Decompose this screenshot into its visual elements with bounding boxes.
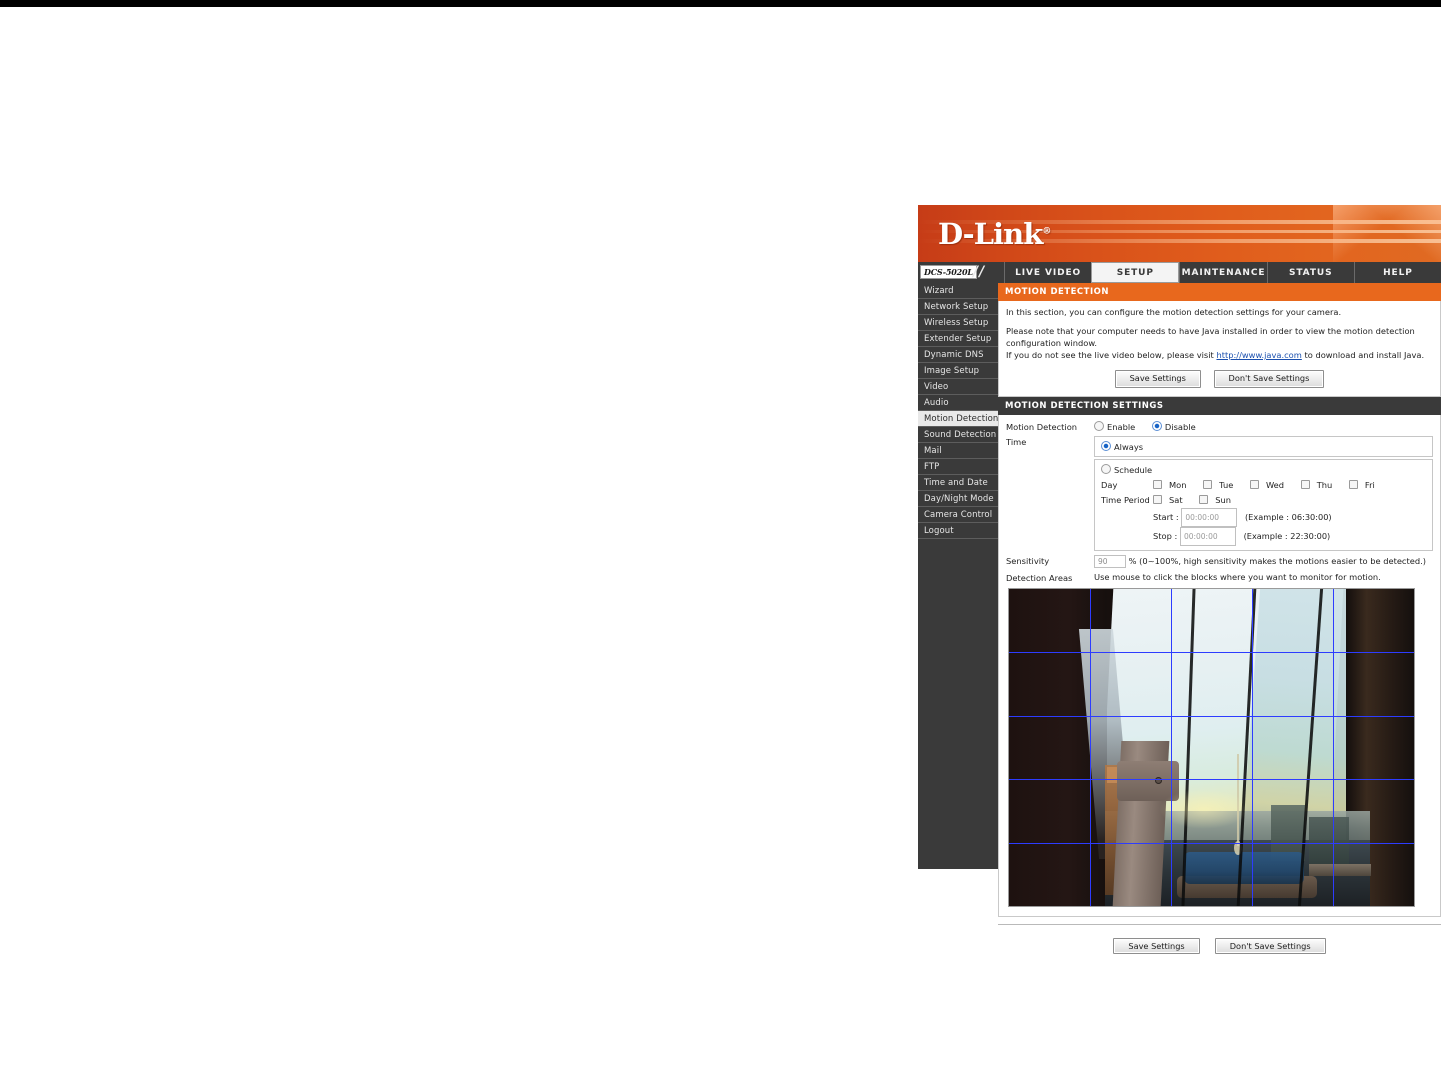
label-time: Time — [1006, 436, 1094, 551]
checkbox-tue-icon[interactable] — [1203, 480, 1212, 489]
schedule-controls: Mon Tue Wed Thu Fri Sat Sun — [1153, 478, 1426, 546]
schedule-option-box: Schedule Day Time Period Mon — [1094, 459, 1433, 551]
start-time-input[interactable]: 00:00:00 — [1181, 508, 1237, 527]
checkbox-fri[interactable]: Fri — [1349, 480, 1382, 490]
scene-building-far — [1309, 817, 1349, 865]
time-options: Always Schedule Day Time Period — [1094, 436, 1433, 551]
sidebar-item-camera-control[interactable]: Camera Control — [918, 507, 998, 523]
radio-always-icon[interactable] — [1101, 441, 1111, 451]
label-mon: Mon — [1169, 480, 1187, 490]
intro-block: In this section, you can configure the m… — [998, 301, 1441, 397]
motion-detection-radio-group: Enable Disable — [1094, 421, 1433, 432]
sidebar-item-wizard[interactable]: Wizard — [918, 283, 998, 299]
settings-form: Motion Detection Enable Disable Time Alw… — [998, 415, 1441, 917]
label-disable: Disable — [1165, 422, 1196, 432]
detection-grid-line-v[interactable] — [1090, 589, 1091, 906]
section-header-motion-detection: MOTION DETECTION — [998, 283, 1441, 301]
section-header-motion-detection-settings: MOTION DETECTION SETTINGS — [998, 397, 1441, 415]
java-visit-suffix: to download and install Java. — [1302, 350, 1424, 360]
sidebar-item-mail[interactable]: Mail — [918, 443, 998, 459]
stop-time-input[interactable]: 00:00:00 — [1180, 527, 1236, 546]
checkbox-wed-icon[interactable] — [1250, 480, 1259, 489]
scene-blue-furniture — [1184, 852, 1304, 884]
label-sun: Sun — [1215, 495, 1231, 505]
detection-grid-line-h[interactable] — [1009, 779, 1414, 780]
sidebar-item-time-and-date[interactable]: Time and Date — [918, 475, 998, 491]
detection-grid-line-v[interactable] — [1171, 589, 1172, 906]
tab-live-video[interactable]: LIVE VIDEO — [1004, 262, 1091, 283]
detection-area-video-preview[interactable] — [1008, 588, 1415, 907]
dont-save-settings-button-bottom[interactable]: Don't Save Settings — [1215, 938, 1326, 954]
java-download-link[interactable]: http://www.java.com — [1216, 350, 1301, 360]
camera-scene — [1009, 589, 1414, 906]
content-area: MOTION DETECTION In this section, you ca… — [998, 283, 1441, 869]
detection-grid-line-h[interactable] — [1009, 652, 1414, 653]
checkbox-mon-icon[interactable] — [1153, 480, 1162, 489]
sidebar-item-motion-detection[interactable]: Motion Detection — [918, 411, 998, 427]
detection-areas-hint: Use mouse to click the blocks where you … — [1094, 572, 1381, 582]
registered-mark-icon: ® — [1042, 226, 1050, 236]
sidebar-item-ftp[interactable]: FTP — [918, 459, 998, 475]
row-sensitivity: Sensitivity 90 % (0~100%, high sensitivi… — [1006, 555, 1433, 568]
label-detection-areas: Detection Areas — [1006, 572, 1094, 583]
checkbox-wed[interactable]: Wed — [1250, 480, 1291, 490]
radio-option-disable[interactable]: Disable — [1152, 422, 1196, 432]
checkbox-sat[interactable]: Sat — [1153, 495, 1190, 505]
model-name: DCS-5020L — [920, 265, 977, 279]
checkbox-tue[interactable]: Tue — [1203, 480, 1240, 490]
label-thu: Thu — [1317, 480, 1333, 490]
label-sat: Sat — [1169, 495, 1183, 505]
tab-setup[interactable]: SETUP — [1091, 262, 1179, 283]
label-time-period: Time Period — [1101, 493, 1153, 508]
start-time-line: Start : 00:00:00 (Example : 06:30:00) — [1153, 508, 1426, 527]
save-settings-button-top[interactable]: Save Settings — [1115, 370, 1201, 388]
detection-areas-hint-field: Use mouse to click the blocks where you … — [1094, 572, 1433, 583]
label-schedule: Schedule — [1114, 465, 1152, 475]
banner-wedge-decoration — [1333, 205, 1441, 262]
save-settings-button-bottom[interactable]: Save Settings — [1113, 938, 1199, 954]
intro-paragraph-2: Please note that your computer needs to … — [1006, 325, 1433, 361]
dlink-camera-web-ui: D-Link® DCS-5020L // LIVE VIDEO SETUP MA… — [918, 205, 1441, 869]
sidebar-item-sound-detection[interactable]: Sound Detection — [918, 427, 998, 443]
label-tue: Tue — [1219, 480, 1233, 490]
screen-top-border — [0, 0, 1441, 7]
model-badge-area: DCS-5020L // — [918, 262, 1004, 283]
tab-maintenance[interactable]: MAINTENANCE — [1179, 262, 1266, 283]
detection-grid-line-v[interactable] — [1333, 589, 1334, 906]
label-motion-detection: Motion Detection — [1006, 421, 1094, 432]
label-sensitivity: Sensitivity — [1006, 555, 1094, 568]
slash-decoration-icon: // — [973, 264, 985, 280]
stop-time-line: Stop : 00:00:00 (Example : 22:30:00) — [1153, 527, 1426, 546]
intro-paragraph-1: In this section, you can configure the m… — [1006, 306, 1433, 318]
checkbox-mon[interactable]: Mon — [1153, 480, 1194, 490]
label-enable: Enable — [1107, 422, 1135, 432]
java-visit-prefix: If you do not see the live video below, … — [1006, 350, 1216, 360]
checkbox-fri-icon[interactable] — [1349, 480, 1358, 489]
sensitivity-input[interactable]: 90 — [1094, 555, 1126, 568]
sidebar-item-video[interactable]: Video — [918, 379, 998, 395]
sensitivity-unit: % — [1129, 556, 1137, 566]
sidebar-item-audio[interactable]: Audio — [918, 395, 998, 411]
checkbox-thu-icon[interactable] — [1301, 480, 1310, 489]
checkbox-sun-icon[interactable] — [1199, 495, 1208, 504]
label-always: Always — [1114, 442, 1143, 452]
schedule-grid: Day Time Period Mon Tue Wed Thu — [1101, 478, 1426, 546]
detection-grid-line-v[interactable] — [1252, 589, 1253, 906]
dlink-logo-text: D-Link — [938, 217, 1042, 251]
always-option-box[interactable]: Always — [1094, 436, 1433, 457]
detection-grid-line-h[interactable] — [1009, 843, 1414, 844]
sidebar-item-extender-setup[interactable]: Extender Setup — [918, 331, 998, 347]
page-body: Wizard Network Setup Wireless Setup Exte… — [918, 283, 1441, 869]
row-time: Time Always Schedule Day — [1006, 436, 1433, 551]
dlink-logo: D-Link® — [938, 217, 1050, 251]
sensitivity-field: 90 % (0~100%, high sensitivity makes the… — [1094, 555, 1433, 568]
dont-save-settings-button-top[interactable]: Don't Save Settings — [1214, 370, 1325, 388]
schedule-row-labels: Day Time Period — [1101, 478, 1153, 508]
checkbox-sat-icon[interactable] — [1153, 495, 1162, 504]
brand-banner: D-Link® — [918, 205, 1441, 262]
sidebar-item-network-setup[interactable]: Network Setup — [918, 299, 998, 315]
checkbox-thu[interactable]: Thu — [1301, 480, 1340, 490]
label-fri: Fri — [1365, 480, 1375, 490]
tab-status[interactable]: STATUS — [1267, 262, 1354, 283]
sidebar-item-logout[interactable]: Logout — [918, 523, 998, 539]
start-time-example: (Example : 06:30:00) — [1245, 512, 1332, 522]
scene-window-sill — [1309, 864, 1371, 876]
top-button-row: Save Settings Don't Save Settings — [1006, 370, 1433, 388]
primary-nav: DCS-5020L // LIVE VIDEO SETUP MAINTENANC… — [918, 262, 1441, 283]
radio-option-enable[interactable]: Enable — [1094, 422, 1135, 432]
sidebar-item-image-setup[interactable]: Image Setup — [918, 363, 998, 379]
radio-schedule-icon[interactable] — [1101, 464, 1111, 474]
label-start: Start : — [1153, 512, 1179, 522]
sidebar-item-wireless-setup[interactable]: Wireless Setup — [918, 315, 998, 331]
tab-help[interactable]: HELP — [1354, 262, 1441, 283]
radio-disable-icon[interactable] — [1152, 421, 1162, 431]
label-day: Day — [1101, 478, 1153, 493]
checkbox-sun[interactable]: Sun — [1199, 495, 1238, 505]
sidebar-item-day-night-mode[interactable]: Day/Night Mode — [918, 491, 998, 507]
sidebar-menu: Wizard Network Setup Wireless Setup Exte… — [918, 283, 998, 869]
stop-time-example: (Example : 22:30:00) — [1244, 531, 1331, 541]
sidebar-item-dynamic-dns[interactable]: Dynamic DNS — [918, 347, 998, 363]
scene-sunlight-glow — [1159, 789, 1249, 829]
java-requirement-text: Please note that your computer needs to … — [1006, 326, 1415, 348]
row-detection-areas: Detection Areas Use mouse to click the b… — [1006, 572, 1433, 583]
label-stop: Stop : — [1153, 531, 1177, 541]
schedule-radio-line[interactable]: Schedule — [1101, 464, 1426, 475]
sensitivity-hint: (0~100%, high sensitivity makes the moti… — [1139, 556, 1426, 566]
label-wed: Wed — [1266, 480, 1284, 490]
detection-grid-line-h[interactable] — [1009, 716, 1414, 717]
radio-enable-icon[interactable] — [1094, 421, 1104, 431]
row-motion-detection: Motion Detection Enable Disable — [1006, 421, 1433, 432]
day-checkbox-group: Mon Tue Wed Thu Fri Sat Sun — [1153, 478, 1426, 508]
bottom-button-row: Save Settings Don't Save Settings — [998, 925, 1441, 954]
